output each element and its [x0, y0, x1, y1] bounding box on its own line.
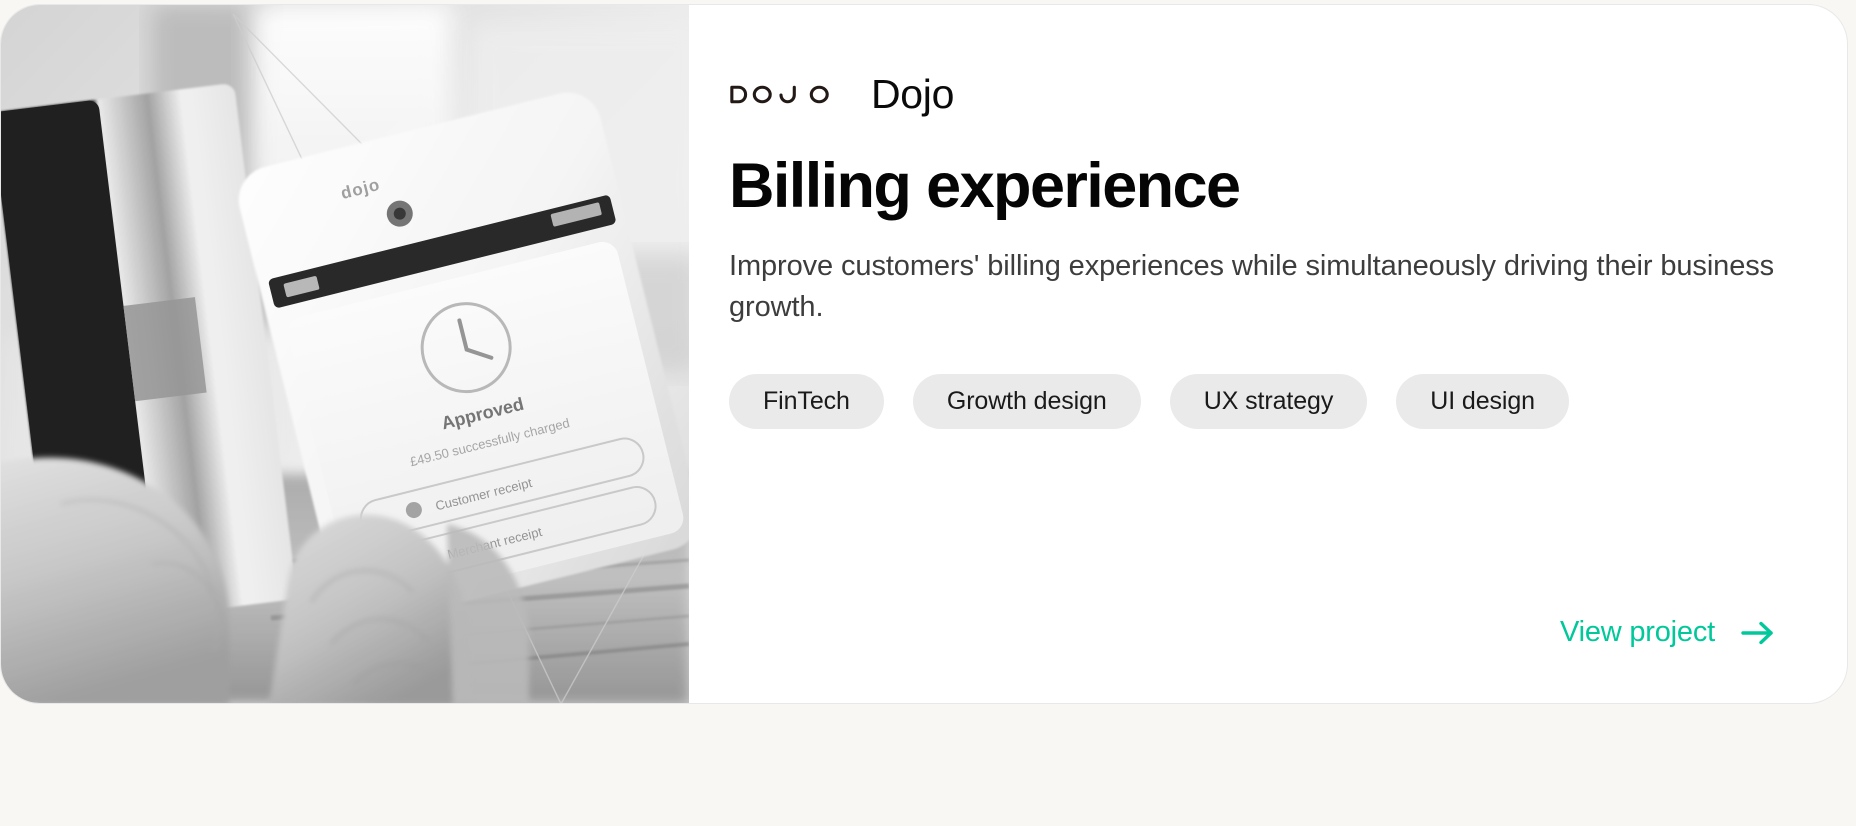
dojo-wordmark-icon — [729, 85, 843, 104]
tag-ux-strategy[interactable]: UX strategy — [1170, 374, 1368, 429]
page-root: dojo Approved £49.50 successfully cha — [0, 0, 1856, 826]
payment-terminal-photo: dojo Approved £49.50 successfully cha — [1, 5, 689, 703]
cta-row: View project — [729, 616, 1775, 663]
tag-growth-design[interactable]: Growth design — [913, 374, 1141, 429]
tag-ui-design[interactable]: UI design — [1396, 374, 1569, 429]
tag-fintech[interactable]: FinTech — [729, 374, 884, 429]
brand-name: Dojo — [871, 74, 954, 115]
view-project-label: View project — [1560, 616, 1715, 649]
project-card[interactable]: dojo Approved £49.50 successfully cha — [0, 4, 1848, 704]
arrow-right-icon — [1741, 620, 1775, 646]
project-details: Dojo Billing experience Improve customer… — [689, 5, 1847, 703]
view-project-link[interactable]: View project — [1560, 616, 1775, 649]
project-image: dojo Approved £49.50 successfully cha — [1, 5, 689, 703]
tag-list: FinTech Growth design UX strategy UI des… — [729, 374, 1775, 429]
project-description: Improve customers' billing experiences w… — [729, 246, 1775, 328]
brand-row: Dojo — [729, 71, 1775, 117]
project-title: Billing experience — [729, 153, 1775, 219]
